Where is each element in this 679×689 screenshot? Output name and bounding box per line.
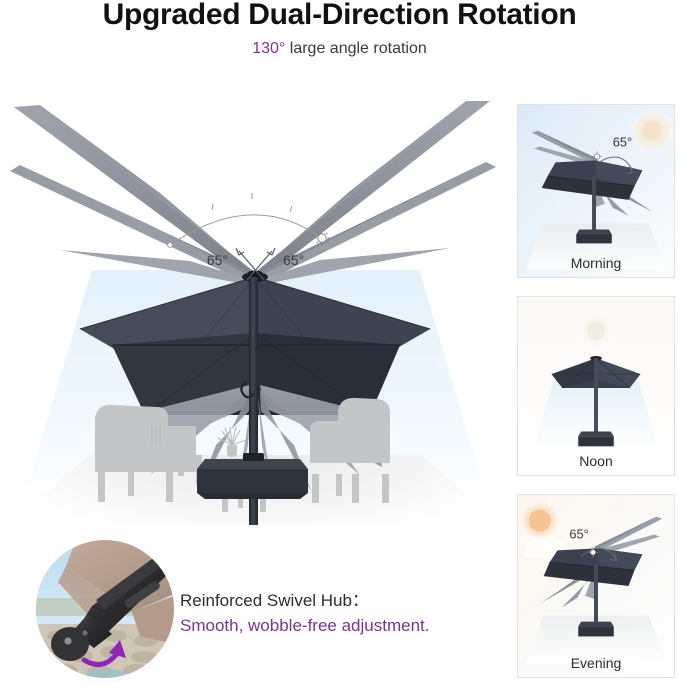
subtitle-text: large angle rotation	[285, 40, 426, 57]
hero-illustration: 65° 65°	[0, 85, 505, 535]
umbrella-base	[197, 453, 308, 499]
panel-morning-angle-label: 65°	[613, 135, 632, 150]
subtitle-angle-value: 130°	[252, 40, 285, 57]
hinge-disc	[51, 627, 89, 661]
panel-evening-label: Evening	[518, 655, 674, 671]
sun-icon	[642, 121, 662, 141]
panel-evening-angle-label: 65°	[569, 527, 588, 542]
panel-noon-pole	[594, 358, 598, 433]
sun-icon	[587, 322, 605, 340]
panel-evening-base	[578, 622, 614, 637]
panel-morning[interactable]: 65° Morning	[517, 104, 675, 278]
panel-evening-pole	[594, 564, 598, 623]
panel-noon-base	[578, 431, 614, 446]
panel-morning-pole	[592, 176, 596, 231]
header: Upgraded Dual-Direction Rotation 130° la…	[0, 0, 679, 72]
feature-heading: Reinforced Swivel Hub：	[180, 588, 500, 613]
page-title: Upgraded Dual-Direction Rotation	[0, 0, 679, 32]
swivel-hub-photo	[36, 540, 174, 678]
feature-text-block: Reinforced Swivel Hub： Smooth, wobble-fr…	[180, 588, 500, 638]
panel-morning-graphic: 65°	[518, 105, 674, 277]
panel-noon[interactable]: Noon	[517, 296, 675, 476]
hero-umbrella-graphic: 65° 65°	[0, 85, 505, 535]
panel-morning-base	[576, 230, 612, 244]
panel-evening-graphic: 65°	[518, 495, 674, 677]
sun-icon	[529, 510, 551, 532]
panel-noon-graphic	[518, 297, 674, 475]
panel-evening[interactable]: 65° Evening	[517, 494, 675, 678]
feature-callout: Reinforced Swivel Hub： Smooth, wobble-fr…	[0, 536, 505, 686]
hero-angle-left-label: 65°	[207, 252, 228, 268]
subtitle: 130° large angle rotation	[0, 40, 679, 58]
hero-angle-right-label: 65°	[283, 252, 304, 268]
panel-noon-label: Noon	[518, 453, 674, 469]
feature-subheading: Smooth, wobble-free adjustment.	[180, 613, 500, 638]
panel-morning-label: Morning	[518, 255, 674, 271]
